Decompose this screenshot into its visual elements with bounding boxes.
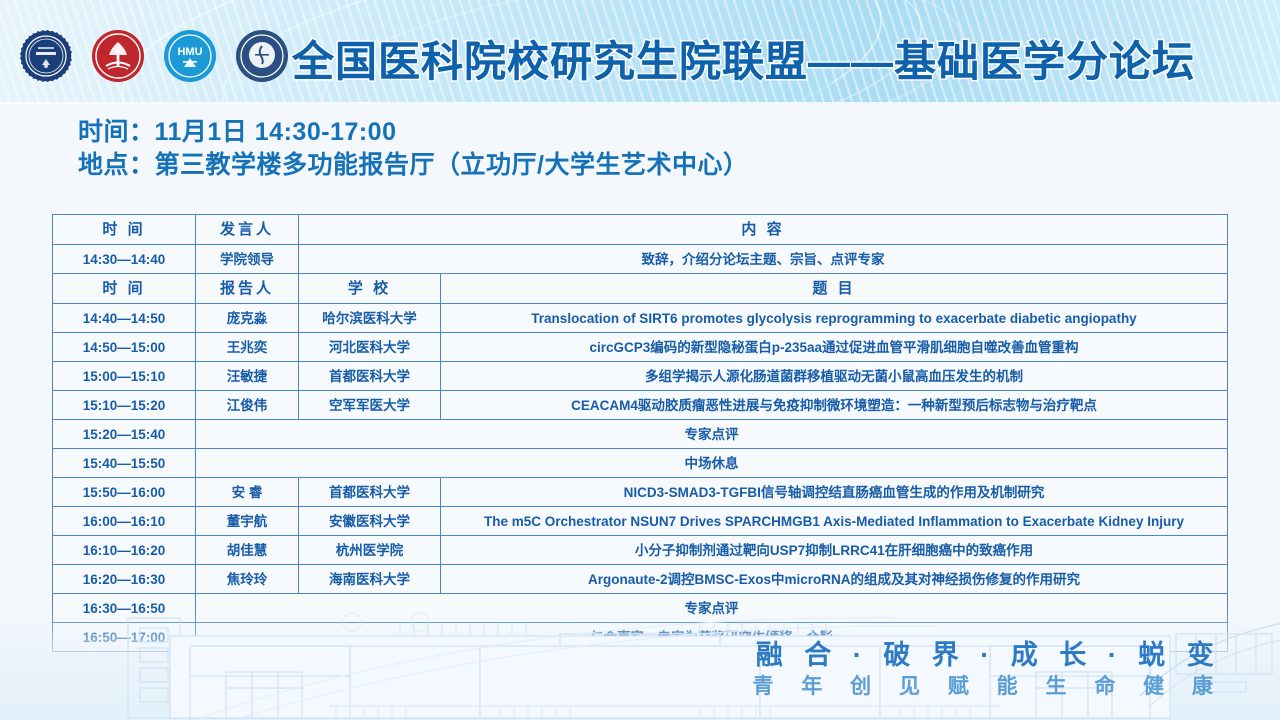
table-row: 14:50—15:00王兆奕河北医科大学circGCP3编码的新型隐秘蛋白p-2… xyxy=(53,333,1228,362)
row-time: 15:50—16:00 xyxy=(53,478,196,507)
header-divider xyxy=(0,102,1280,104)
col-header-speaker: 发言人 xyxy=(196,215,299,245)
table-row: 15:00—15:10汪敏捷首都医科大学多组学揭示人源化肠道菌群移植驱动无菌小鼠… xyxy=(53,362,1228,391)
col-header-presenter: 报告人 xyxy=(196,274,299,304)
row-note: 专家点评 xyxy=(196,420,1228,449)
slogan-secondary: 青 年 创 见 赋 能 生 命 健 康 xyxy=(752,672,1224,702)
row-time: 16:20—16:30 xyxy=(53,565,196,594)
row-presenter: 汪敏捷 xyxy=(196,362,299,391)
row-title: CEACAM4驱动胶质瘤恶性进展与免疫抑制微环境塑造：一种新型预后标志物与治疗靶… xyxy=(441,391,1228,420)
table-row: 16:00—16:10董宇航安徽医科大学The m5C Orchestrator… xyxy=(53,507,1228,536)
row-time: 16:10—16:20 xyxy=(53,536,196,565)
logo-strip: HMU xyxy=(18,28,290,84)
row-school: 哈尔滨医科大学 xyxy=(299,304,441,333)
logo-harbin-medical-university: HMU xyxy=(162,28,218,84)
opening-time: 14:30—14:40 xyxy=(53,245,196,274)
row-time: 15:20—15:40 xyxy=(53,420,196,449)
page-title: 全国医科院校研究生院联盟——基础医学分论坛 xyxy=(292,28,1195,89)
event-place: 地点：第三教学楼多功能报告厅（立功厅/大学生艺术中心） xyxy=(78,149,748,182)
table-row: 16:10—16:20胡佳慧杭州医学院小分子抑制剂通过靶向USP7抑制LRRC4… xyxy=(53,536,1228,565)
table-row: 16:20—16:30焦玲玲海南医科大学Argonaute-2调控BMSC-Ex… xyxy=(53,565,1228,594)
row-presenter: 胡佳慧 xyxy=(196,536,299,565)
col-header-content: 内 容 xyxy=(299,215,1228,245)
row-title: 小分子抑制剂通过靶向USP7抑制LRRC41在肝细胞癌中的致癌作用 xyxy=(441,536,1228,565)
schedule-table: 时 间 发言人 内 容 14:30—14:40 学院领导 致辞，介绍分论坛主题、… xyxy=(52,214,1228,652)
row-title: Translocation of SIRT6 promotes glycolys… xyxy=(441,304,1228,333)
event-meta: 时间：11月1日 14:30-17:00 地点：第三教学楼多功能报告厅（立功厅/… xyxy=(78,116,748,182)
svg-text:HMU: HMU xyxy=(177,46,202,58)
row-title: circGCP3编码的新型隐秘蛋白p-235aa通过促进血管平滑肌细胞自噬改善血… xyxy=(441,333,1228,362)
row-presenter: 庞克淼 xyxy=(196,304,299,333)
row-school: 首都医科大学 xyxy=(299,362,441,391)
row-time: 15:10—15:20 xyxy=(53,391,196,420)
table-row: 14:40—14:50庞克淼哈尔滨医科大学Translocation of SI… xyxy=(53,304,1228,333)
row-time: 14:40—14:50 xyxy=(53,304,196,333)
table-row: 15:50—16:00安 睿首都医科大学NICD3-SMAD3-TGFBI信号轴… xyxy=(53,478,1228,507)
page-header: HMU 全国医科院校研究生院联盟——基础医学分论坛 全国医科院校研究生院联盟——… xyxy=(0,0,1280,104)
table-header-row-1: 时 间 发言人 内 容 xyxy=(53,215,1228,245)
row-presenter: 董宇航 xyxy=(196,507,299,536)
row-time: 15:40—15:50 xyxy=(53,449,196,478)
logo-graduate-school-alliance xyxy=(18,28,74,84)
logo-hainan-medical-university xyxy=(90,28,146,84)
row-title: 多组学揭示人源化肠道菌群移植驱动无菌小鼠高血压发生的机制 xyxy=(441,362,1228,391)
table-header-row-2: 时 间 报告人 学 校 题 目 xyxy=(53,274,1228,304)
col-header-title: 题 目 xyxy=(441,274,1228,304)
row-presenter: 王兆奕 xyxy=(196,333,299,362)
slogan-primary: 融 合 · 破 界 · 成 长 · 蜕 变 xyxy=(752,638,1224,672)
page-footer: 融 合 · 破 界 · 成 长 · 蜕 变 青 年 创 见 赋 能 生 命 健 … xyxy=(0,610,1280,720)
opening-content: 致辞，介绍分论坛主题、宗旨、点评专家 xyxy=(299,245,1228,274)
row-school: 首都医科大学 xyxy=(299,478,441,507)
row-title: The m5C Orchestrator NSUN7 Drives SPARCH… xyxy=(441,507,1228,536)
schedule-table-body: 时 间 发言人 内 容 14:30—14:40 学院领导 致辞，介绍分论坛主题、… xyxy=(53,215,1228,652)
row-school: 河北医科大学 xyxy=(299,333,441,362)
col-header-school: 学 校 xyxy=(299,274,441,304)
row-presenter: 焦玲玲 xyxy=(196,565,299,594)
table-row: 15:40—15:50中场休息 xyxy=(53,449,1228,478)
row-school: 安徽医科大学 xyxy=(299,507,441,536)
table-row: 15:10—15:20江俊伟空军军医大学CEACAM4驱动胶质瘤恶性进展与免疫抑… xyxy=(53,391,1228,420)
row-time: 15:00—15:10 xyxy=(53,362,196,391)
table-row-opening: 14:30—14:40 学院领导 致辞，介绍分论坛主题、宗旨、点评专家 xyxy=(53,245,1228,274)
row-presenter: 安 睿 xyxy=(196,478,299,507)
opening-speaker: 学院领导 xyxy=(196,245,299,274)
row-school: 海南医科大学 xyxy=(299,565,441,594)
table-row: 15:20—15:40专家点评 xyxy=(53,420,1228,449)
row-presenter: 江俊伟 xyxy=(196,391,299,420)
row-school: 杭州医学院 xyxy=(299,536,441,565)
event-time: 时间：11月1日 14:30-17:00 xyxy=(78,116,748,149)
row-time: 14:50—15:00 xyxy=(53,333,196,362)
row-title: Argonaute-2调控BMSC-Exos中microRNA的组成及其对神经损… xyxy=(441,565,1228,594)
footer-slogan: 融 合 · 破 界 · 成 长 · 蜕 变 青 年 创 见 赋 能 生 命 健 … xyxy=(752,638,1224,702)
row-title: NICD3-SMAD3-TGFBI信号轴调控结直肠癌血管生成的作用及机制研究 xyxy=(441,478,1228,507)
row-time: 16:00—16:10 xyxy=(53,507,196,536)
row-school: 空军军医大学 xyxy=(299,391,441,420)
logo-partner-university xyxy=(234,28,290,84)
col-header-time-1: 时 间 xyxy=(53,215,196,245)
col-header-time-2: 时 间 xyxy=(53,274,196,304)
row-note: 中场休息 xyxy=(196,449,1228,478)
